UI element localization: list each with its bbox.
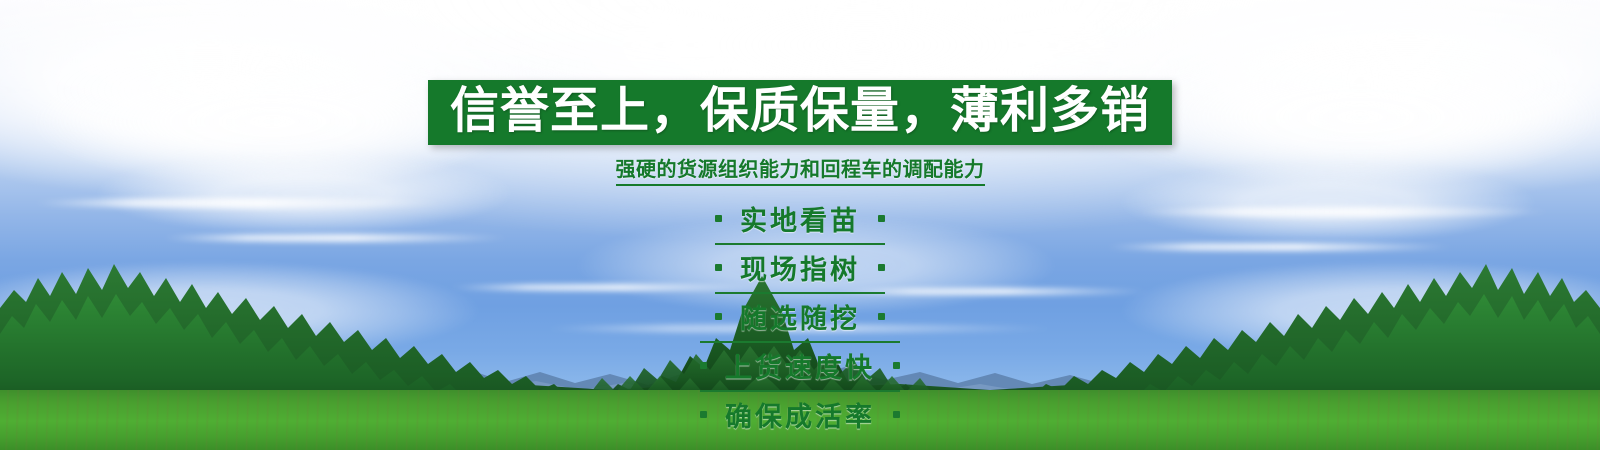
bullet-dot-icon <box>715 313 722 320</box>
feature-item-1: 实地看苗 <box>715 196 885 243</box>
bullet-dot-icon <box>715 215 722 222</box>
feature-item-2: 现场指树 <box>715 243 885 292</box>
bullet-dot-icon <box>700 362 707 369</box>
feature-label: 实地看苗 <box>740 199 860 238</box>
bullet-dot-icon <box>715 264 722 271</box>
feature-label: 确保成活率 <box>725 395 875 434</box>
feature-item-5: 确保成活率 <box>700 390 900 439</box>
bullet-dot-icon <box>878 313 885 320</box>
bullet-dot-icon <box>878 215 885 222</box>
feature-list: 实地看苗 现场指树 随选随挖 上货速度快 确保成活率 <box>700 196 900 439</box>
subtitle-text: 强硬的货源组织能力和回程车的调配能力 <box>616 153 985 186</box>
feature-label: 现场指树 <box>740 248 860 287</box>
bullet-dot-icon <box>893 411 900 418</box>
promo-banner: 信誉至上，保质保量，薄利多销 强硬的货源组织能力和回程车的调配能力 实地看苗 现… <box>0 0 1600 450</box>
feature-label: 上货速度快 <box>725 346 875 385</box>
bullet-dot-icon <box>893 362 900 369</box>
bullet-dot-icon <box>878 264 885 271</box>
banner-content: 信誉至上，保质保量，薄利多销 强硬的货源组织能力和回程车的调配能力 实地看苗 现… <box>0 0 1600 439</box>
feature-item-3: 随选随挖 <box>715 292 885 341</box>
feature-item-4: 上货速度快 <box>700 341 900 390</box>
headline-bar: 信誉至上，保质保量，薄利多销 <box>428 80 1172 145</box>
feature-label: 随选随挖 <box>740 297 860 336</box>
headline-text: 信誉至上，保质保量，薄利多销 <box>450 86 1150 136</box>
bullet-dot-icon <box>700 411 707 418</box>
